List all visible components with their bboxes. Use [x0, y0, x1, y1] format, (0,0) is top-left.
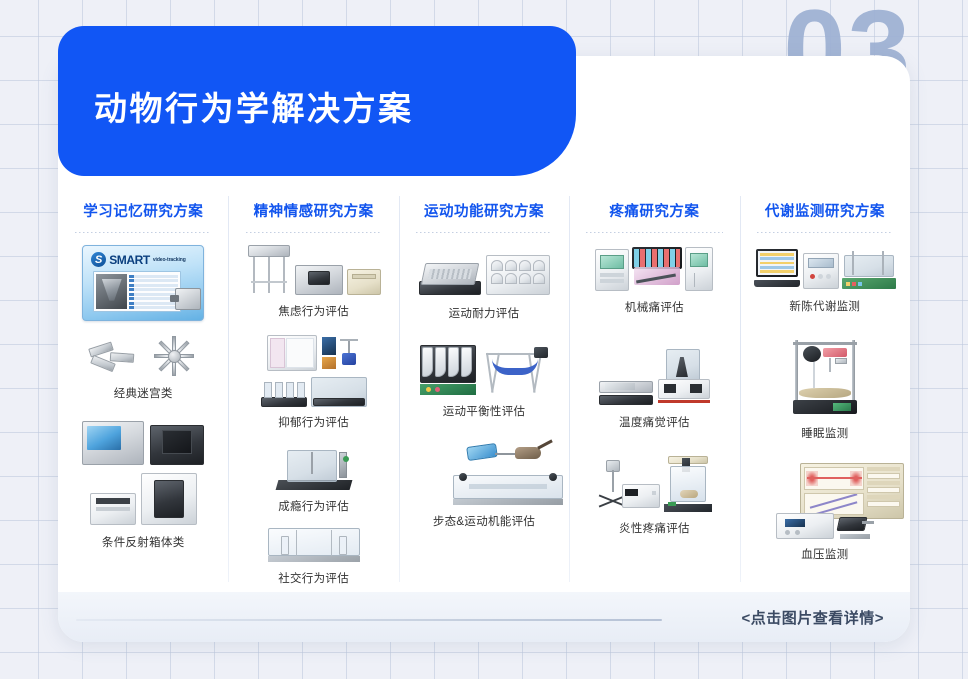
product-images[interactable]	[746, 249, 904, 289]
header-divider	[757, 232, 893, 233]
group-blood-pressure-monitoring[interactable]: 血压监测	[746, 463, 904, 562]
group-gait-assessment[interactable]: 步态&运动机能评估	[405, 441, 563, 529]
product-images[interactable]	[575, 456, 733, 512]
grip-strength-meter-image[interactable]	[467, 441, 563, 469]
smart-video-pane	[96, 274, 127, 309]
radial-maze-image[interactable]	[151, 335, 197, 377]
title-banner: 动物行为学解决方案	[58, 26, 576, 176]
group-anxiety-assessment[interactable]: 焦虑行为评估	[234, 243, 392, 319]
product-images[interactable]: S SMART video-tracking	[64, 245, 222, 321]
group-mechanical-pain-assessment[interactable]: 机械痛评估	[575, 247, 733, 315]
smart-subtitle: video-tracking	[153, 257, 186, 263]
conditioning-cabinet-image[interactable]	[141, 473, 197, 525]
smart-s-icon: S	[91, 252, 106, 267]
group-label: 睡眠监测	[801, 425, 848, 441]
treadmill-image[interactable]	[419, 257, 481, 295]
group-label: 步态&运动机能评估	[433, 513, 535, 529]
group-label: 血压监测	[801, 546, 848, 562]
column-header: 学习记忆研究方案	[83, 200, 203, 221]
group-inflammatory-pain-assessment[interactable]: 炎性疼痛评估	[575, 456, 733, 536]
thermal-plantar-test-image[interactable]	[658, 349, 710, 405]
group-label: 条件反射箱体类	[102, 534, 185, 550]
page-title: 动物行为学解决方案	[94, 82, 414, 130]
smart-camera-image	[175, 288, 201, 310]
group-sleep-monitoring[interactable]: 睡眠监测	[746, 340, 904, 441]
group-label: 运动平衡性评估	[443, 403, 526, 419]
product-images[interactable]	[746, 463, 904, 539]
group-classic-maze[interactable]: S SMART video-tracking	[64, 245, 222, 401]
header-divider	[416, 232, 552, 233]
group-addiction-assessment[interactable]: 成瘾行为评估	[234, 444, 392, 514]
product-images[interactable]	[405, 255, 563, 295]
product-images[interactable]	[405, 441, 563, 505]
startle-chamber-image[interactable]	[82, 421, 144, 465]
product-images[interactable]	[64, 421, 222, 465]
analysis-software-image[interactable]	[267, 335, 317, 371]
group-depression-assessment[interactable]: 抑郁行为评估	[234, 335, 392, 430]
column-pain-research: 疼痛研究方案	[569, 186, 739, 592]
bp-controller-image[interactable]	[776, 513, 834, 539]
group-label: 运动耐力评估	[449, 305, 520, 321]
column-motor-function: 运动功能研究方案	[399, 186, 569, 592]
operant-chamber-image[interactable]	[150, 425, 204, 465]
running-wheel-array-image[interactable]	[486, 255, 550, 295]
smart-ui-panel	[93, 271, 181, 312]
group-label: 机械痛评估	[625, 299, 684, 315]
gas-analyzer-image[interactable]	[803, 253, 839, 289]
product-images[interactable]	[64, 473, 222, 525]
laptop-image[interactable]	[754, 249, 800, 289]
column-header: 运动功能研究方案	[424, 200, 544, 221]
column-mental-emotional: 精神情感研究方案 焦虑行为评估	[228, 186, 398, 592]
group-label: 经典迷宫类	[114, 385, 173, 401]
von-frey-meter-image[interactable]	[595, 249, 629, 291]
product-images[interactable]	[234, 243, 392, 295]
tail-cuff-holder-image[interactable]	[838, 513, 874, 539]
paw-volume-meter-image[interactable]	[596, 460, 660, 512]
group-label: 焦虑行为评估	[278, 303, 349, 319]
group-thermal-pain-assessment[interactable]: 温度痛觉评估	[575, 349, 733, 430]
von-frey-filament-kit-image[interactable]	[632, 247, 682, 291]
column-header: 精神情感研究方案	[254, 200, 374, 221]
group-label: 社交行为评估	[278, 570, 349, 586]
hot-plate-image[interactable]	[599, 379, 653, 405]
solutions-columns: 学习记忆研究方案 S SMART video-tracking	[58, 186, 910, 592]
smart-logo: S SMART video-tracking	[91, 252, 185, 267]
elevated-plus-maze-image[interactable]	[247, 243, 291, 295]
group-metabolism-monitoring[interactable]: 新陈代谢监测	[746, 249, 904, 314]
group-label: 炎性疼痛评估	[619, 520, 690, 536]
maze-images[interactable]	[64, 335, 222, 377]
product-images[interactable]	[575, 247, 733, 291]
click-image-hint[interactable]: <点击图片查看详情>	[741, 607, 884, 628]
metabolic-cage-image[interactable]	[842, 255, 896, 289]
group-conditioning-chamber[interactable]: 条件反射箱体类	[64, 421, 222, 550]
footer-divider-line	[76, 619, 662, 621]
card-footer: <点击图片查看详情>	[58, 592, 910, 642]
product-images[interactable]	[234, 377, 392, 407]
group-label: 成瘾行为评估	[278, 498, 349, 514]
group-balance-assessment[interactable]: 运动平衡性评估	[405, 345, 563, 419]
header-divider	[75, 232, 211, 233]
sleep-recording-system-image[interactable]	[789, 340, 861, 416]
product-images[interactable]	[405, 345, 563, 395]
open-field-arena-image[interactable]	[295, 265, 343, 295]
column-metabolic-monitoring: 代谢监测研究方案	[740, 186, 910, 592]
gait-walkway-image[interactable]	[453, 471, 563, 505]
controller-unit-image[interactable]	[90, 493, 136, 525]
group-label: 温度痛觉评估	[619, 414, 690, 430]
rotarod-image[interactable]	[420, 345, 476, 395]
smart-brand: SMART	[109, 253, 150, 267]
bp-software-screen-image[interactable]	[800, 463, 904, 519]
group-endurance-assessment[interactable]: 运动耐力评估	[405, 255, 563, 321]
balance-beam-image[interactable]	[482, 347, 548, 395]
three-chamber-social-box-image[interactable]	[268, 528, 360, 562]
product-images[interactable]	[575, 349, 733, 405]
smart-software-image[interactable]: S SMART video-tracking	[82, 245, 204, 321]
group-social-behavior-assessment[interactable]: 社交行为评估	[234, 528, 392, 586]
product-images[interactable]	[234, 444, 392, 490]
sucrose-preference-cage-image[interactable]	[311, 377, 367, 407]
product-images[interactable]	[234, 528, 392, 562]
product-images[interactable]	[234, 335, 392, 375]
group-label: 抑郁行为评估	[278, 414, 349, 430]
column-learning-memory: 学习记忆研究方案 S SMART video-tracking	[58, 186, 228, 592]
pressure-algometer-image[interactable]	[685, 247, 713, 291]
smart-data-rows	[129, 274, 178, 309]
y-maze-image[interactable]	[89, 339, 135, 377]
control-unit-image[interactable]	[347, 269, 381, 295]
tail-suspension-image[interactable]	[320, 335, 360, 375]
group-label: 新陈代谢监测	[789, 298, 860, 314]
column-header: 疼痛研究方案	[609, 200, 699, 221]
cpp-chamber-image[interactable]	[277, 444, 351, 490]
column-header: 代谢监测研究方案	[765, 200, 885, 221]
forced-swim-rack-image[interactable]	[261, 381, 307, 407]
header-divider	[246, 232, 382, 233]
plethysmometer-chamber-image[interactable]	[664, 456, 712, 512]
header-divider	[586, 232, 722, 233]
product-images[interactable]	[746, 340, 904, 416]
